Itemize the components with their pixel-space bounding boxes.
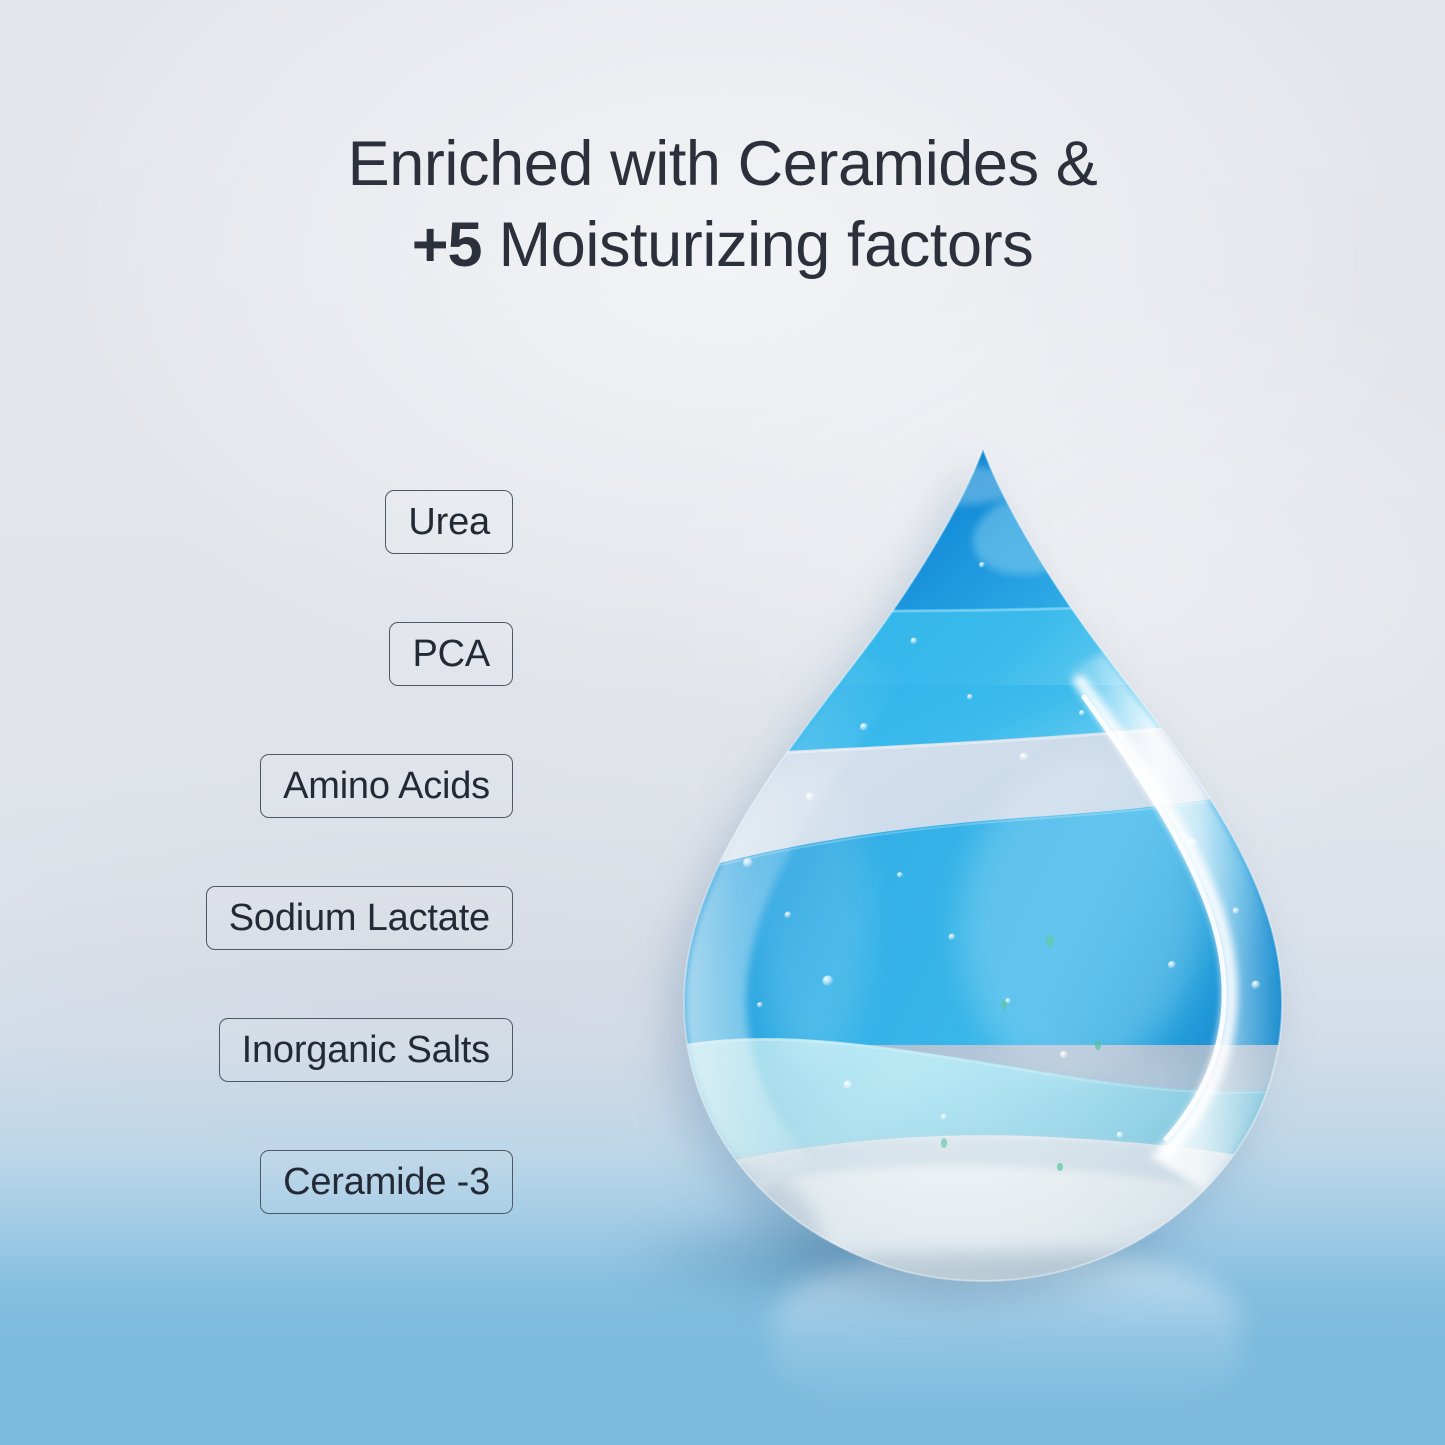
ingredient-pill-label: Urea: [408, 501, 490, 544]
headline-line-1: Enriched with Ceramides &: [348, 129, 1098, 199]
ingredient-pill-label: Ceramide -3: [283, 1161, 490, 1204]
headline-line-2: +5 Moisturizing factors: [0, 205, 1445, 286]
ingredient-pill-pca: PCA: [389, 622, 513, 686]
page-title: Enriched with Ceramides & +5 Moisturizin…: [0, 124, 1445, 285]
ingredient-pill-label: PCA: [412, 633, 490, 676]
promo-graphic-canvas: Enriched with Ceramides & +5 Moisturizin…: [0, 0, 1445, 1445]
headline-emphasis-plus-five: +5: [412, 210, 482, 280]
ingredient-pill-label: Sodium Lactate: [229, 897, 490, 940]
ingredient-pill-sodium-lactate: Sodium Lactate: [206, 886, 513, 950]
ingredient-pill-urea: Urea: [385, 490, 513, 554]
ingredient-pill-amino-acids: Amino Acids: [260, 754, 513, 818]
ingredient-pill-label: Inorganic Salts: [242, 1029, 490, 1072]
ingredient-pill-inorganic-salts: Inorganic Salts: [219, 1018, 513, 1082]
headline-line-2-rest: Moisturizing factors: [482, 210, 1034, 280]
layered-gel-droplet: [652, 445, 1314, 1290]
product-visual: [652, 445, 1314, 1290]
ingredient-pill-label: Amino Acids: [283, 765, 490, 808]
ingredient-pill-list: Urea PCA Amino Acids Sodium Lactate Inor…: [0, 490, 513, 1214]
ingredient-pill-ceramide-3: Ceramide -3: [260, 1150, 513, 1214]
